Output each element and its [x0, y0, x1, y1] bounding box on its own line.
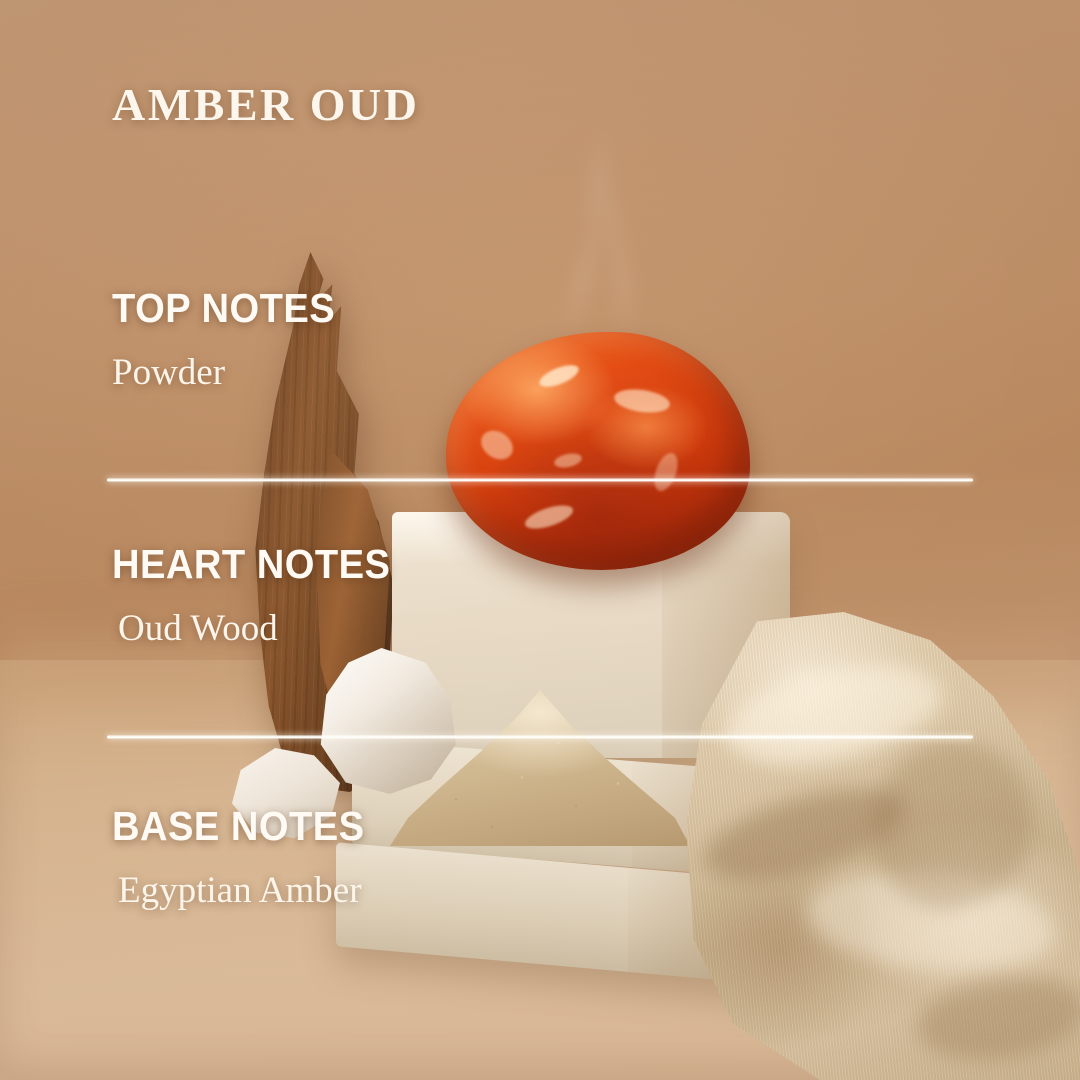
fragrance-notes-card: AMBER OUD TOP NOTES Powder HEART NOTES O…: [0, 0, 1080, 1080]
note-group-heart: HEART NOTES Oud Wood: [112, 544, 411, 647]
divider-top-heart: [107, 478, 973, 482]
divider-heart-base: [107, 735, 973, 739]
top-notes-value: Powder: [112, 354, 352, 391]
heart-notes-value: Oud Wood: [112, 610, 411, 647]
heart-notes-heading: HEART NOTES: [112, 544, 390, 585]
note-group-base: BASE NOTES Egyptian Amber: [112, 806, 384, 909]
top-notes-heading: TOP NOTES: [112, 288, 335, 329]
product-title: AMBER OUD: [112, 78, 419, 131]
base-notes-value: Egyptian Amber: [112, 872, 384, 909]
note-group-top: TOP NOTES Powder: [112, 288, 352, 391]
text-overlay: AMBER OUD TOP NOTES Powder HEART NOTES O…: [0, 0, 1080, 1080]
base-notes-heading: BASE NOTES: [112, 806, 365, 847]
